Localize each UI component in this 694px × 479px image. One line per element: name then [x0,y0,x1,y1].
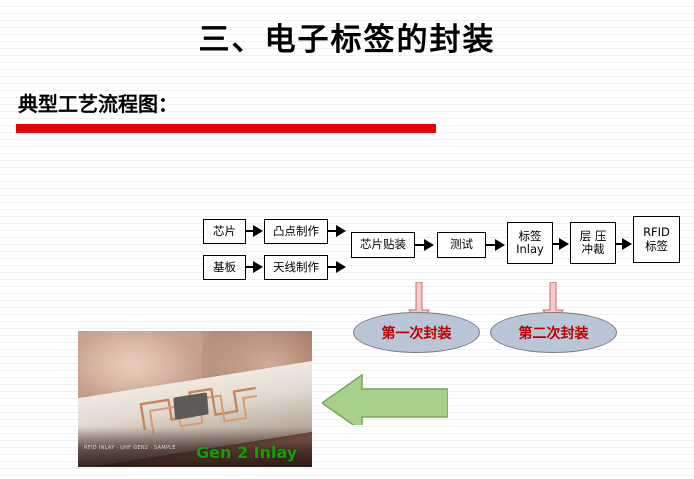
flow-box-laminate-label: 层 压 冲裁 [580,230,607,256]
ellipse-first-package: 第一次封装 [353,312,480,353]
arrow-test-to-inlay [495,239,505,251]
arrow-inlay-to-laminate [559,238,569,250]
arrow-substrate-to-antenna [253,261,263,273]
photo-caption: Gen 2 Inlay [196,443,297,462]
arrow-laminate-to-rfid [622,238,632,250]
green-left-arrow [322,363,448,425]
flow-box-bump-label: 凸点制作 [273,225,319,238]
flow-box-attach-label: 芯片贴装 [360,238,406,251]
flow-box-substrate: 基板 [203,255,246,280]
flow-box-antenna-label: 天线制作 [273,261,319,274]
section-subtitle: 典型工艺流程图： [18,88,178,117]
slide-canvas: 三、电子标签的封装 典型工艺流程图： 芯片 凸点制作 基板 天线制作 芯片贴装 … [0,0,694,479]
flow-box-antenna: 天线制作 [264,255,328,280]
arrow-bump-to-attach [336,225,346,237]
ellipse-second-package-label: 第二次封装 [519,323,589,343]
flow-box-inlay-label: 标签 Inlay [516,230,544,256]
flow-box-laminate: 层 压 冲裁 [570,222,616,264]
flow-box-test-label: 测试 [450,238,473,251]
arrow-chip-to-bump [253,225,263,237]
flow-box-bump: 凸点制作 [264,219,328,244]
flow-box-inlay: 标签 Inlay [507,222,553,264]
flow-box-rfid-label: RFID 标签 [643,226,670,252]
arrow-antenna-to-attach [336,261,346,273]
flow-box-substrate-label: 基板 [213,261,236,274]
ellipse-second-package: 第二次封装 [490,312,617,353]
flow-box-chip: 芯片 [203,219,246,244]
page-title: 三、电子标签的封装 [0,14,694,59]
flow-box-rfid: RFID 标签 [633,216,680,263]
flow-box-attach: 芯片贴装 [351,232,415,258]
photo-micro-text: RFID INLAY · UHF GEN2 · SAMPLE [84,445,176,451]
ellipse-first-package-label: 第一次封装 [382,323,452,343]
inlay-photo: RFID INLAY · UHF GEN2 · SAMPLE Gen 2 Inl… [78,331,312,467]
flow-box-test: 测试 [437,232,486,258]
arrow-attach-to-test [424,239,434,251]
flow-box-chip-label: 芯片 [213,225,236,238]
red-divider-bar [16,124,436,133]
